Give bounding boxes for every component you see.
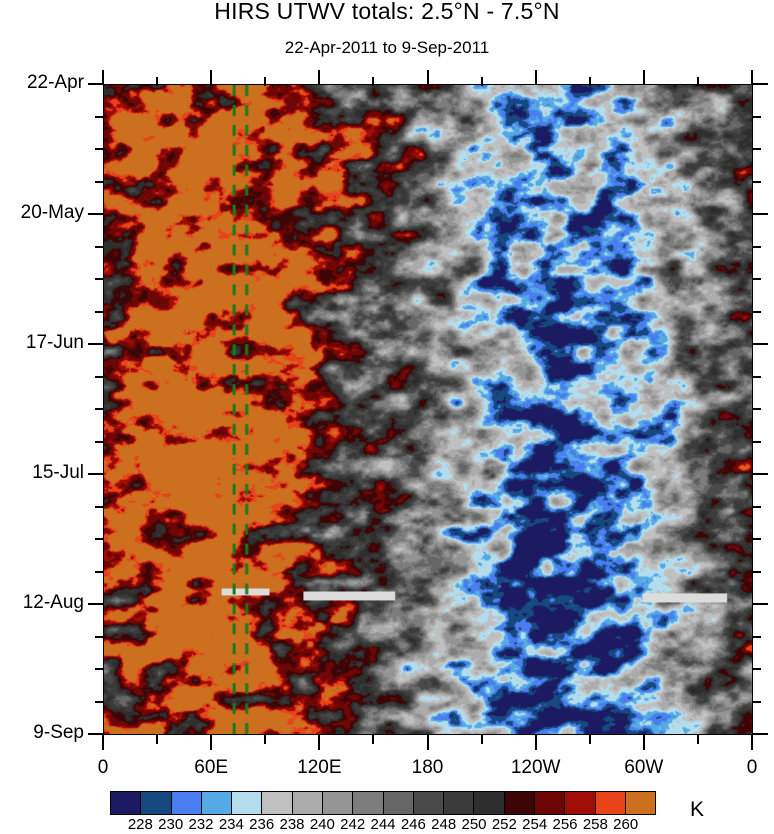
x-axis-tick-label: 0 [747,757,758,779]
x-tick-major [210,735,212,750]
colorbar-swatch [383,792,413,814]
y-tick-major [752,343,768,345]
x-tick-major [427,70,429,85]
x-tick-minor [697,77,699,86]
y-tick-minor [95,571,104,573]
y-tick-minor [95,668,104,670]
colorbar-swatch [201,792,231,814]
y-tick-minor [752,701,761,703]
y-tick-minor [752,636,761,638]
colorbar-tick-label: 228 [128,816,153,833]
x-tick-major [643,70,645,85]
x-tick-minor [372,77,374,86]
colorbar-tick-label: 238 [279,816,304,833]
y-tick-minor [95,441,104,443]
y-tick-minor [95,506,104,508]
x-axis-tick-label: 60W [624,757,663,779]
y-tick-minor [752,278,761,280]
y-tick-minor [752,311,761,313]
colorbar-swatch [595,792,625,814]
y-tick-minor [752,538,761,540]
colorbar-swatch [292,792,322,814]
x-tick-minor [264,735,266,744]
colorbar-tick-label: 254 [522,816,547,833]
colorbar-swatch [261,792,291,814]
x-tick-major [102,735,104,750]
x-tick-major [535,70,537,85]
y-tick-minor [752,408,761,410]
colorbar-tick-label: 248 [431,816,456,833]
x-tick-minor [697,735,699,744]
colorbar-swatch [534,792,564,814]
x-tick-major [643,735,645,750]
x-tick-major [751,70,753,85]
y-tick-major [752,213,768,215]
y-tick-major [752,603,768,605]
x-tick-major [210,70,212,85]
y-tick-minor [95,278,104,280]
colorbar-tick-label: 260 [613,816,638,833]
colorbar-tick-label: 258 [583,816,608,833]
y-tick-minor [95,538,104,540]
chart-title: HIRS UTWV totals: 2.5°N - 7.5°N [0,0,774,25]
x-tick-minor [264,77,266,86]
colorbar-swatch [625,792,655,814]
y-tick-minor [752,116,761,118]
colorbar-swatch [473,792,503,814]
x-tick-major [535,735,537,750]
y-tick-minor [752,441,761,443]
colorbar-tick-label: 236 [249,816,274,833]
x-tick-major [751,735,753,750]
colorbar-swatch [171,792,201,814]
colorbar-swatch [564,792,594,814]
y-tick-major [752,83,768,85]
y-tick-minor [95,408,104,410]
y-tick-minor [95,116,104,118]
x-tick-major [318,735,320,750]
colorbar-tick-label: 232 [188,816,213,833]
x-tick-major [102,70,104,85]
x-tick-minor [372,735,374,744]
y-tick-major [88,603,104,605]
colorbar-swatch [352,792,382,814]
y-tick-minor [95,181,104,183]
colorbar-tick-label: 240 [310,816,335,833]
y-tick-minor [752,571,761,573]
x-axis-tick-label: 120E [297,757,341,779]
x-tick-minor [481,735,483,744]
colorbar-swatch [111,792,140,814]
y-tick-minor [752,148,761,150]
colorbar-tick-label: 252 [492,816,517,833]
colorbar-swatch [413,792,443,814]
x-axis-tick-label: 180 [412,757,444,779]
y-tick-minor [95,148,104,150]
colorbar-tick-label: 250 [461,816,486,833]
colorbar-swatch [231,792,261,814]
x-tick-minor [156,735,158,744]
y-axis-tick-label: 17-Jun [0,332,84,354]
y-axis-tick-label: 9-Sep [0,722,84,744]
colorbar-tick-labels: 2282302322342362382402422442462482502522… [110,816,656,834]
y-tick-minor [95,636,104,638]
colorbar-tick-label: 234 [219,816,244,833]
y-tick-major [752,473,768,475]
x-tick-minor [156,77,158,86]
colorbar-tick-label: 244 [370,816,395,833]
y-tick-minor [752,181,761,183]
colorbar-swatch [443,792,473,814]
y-tick-major [88,213,104,215]
y-tick-minor [752,246,761,248]
colorbar-tick-label: 242 [340,816,365,833]
x-tick-minor [589,735,591,744]
y-axis-tick-label: 22-Apr [0,72,84,94]
y-tick-major [752,733,768,735]
x-axis-tick-label: 60E [194,757,228,779]
chart-subtitle: 22-Apr-2011 to 9-Sep-2011 [0,38,774,58]
colorbar-tick-label: 256 [552,816,577,833]
y-tick-minor [752,506,761,508]
y-tick-major [88,473,104,475]
colorbar-swatch [322,792,352,814]
colorbar-tick-label: 230 [158,816,183,833]
hovmoller-figure: HIRS UTWV totals: 2.5°N - 7.5°N 22-Apr-2… [0,0,774,834]
x-tick-major [318,70,320,85]
y-axis-tick-label: 15-Jul [0,462,84,484]
x-axis-tick-label: 0 [98,757,109,779]
y-tick-minor [95,376,104,378]
y-tick-major [88,343,104,345]
y-tick-minor [95,246,104,248]
colorbar-unit-label: K [690,798,704,822]
y-tick-minor [95,311,104,313]
colorbar-swatch [140,792,170,814]
y-tick-minor [752,668,761,670]
colorbar-tick-label: 246 [401,816,426,833]
x-tick-major [427,735,429,750]
y-tick-minor [752,376,761,378]
x-tick-minor [481,77,483,86]
y-axis-tick-label: 20-May [0,202,84,224]
colorbar [110,791,656,815]
y-axis-tick-label: 12-Aug [0,592,84,614]
heatmap-canvas [104,85,752,734]
colorbar-swatch [504,792,534,814]
x-tick-minor [589,77,591,86]
y-tick-minor [95,701,104,703]
x-axis-tick-label: 120W [511,757,561,779]
plot-area [103,84,753,735]
